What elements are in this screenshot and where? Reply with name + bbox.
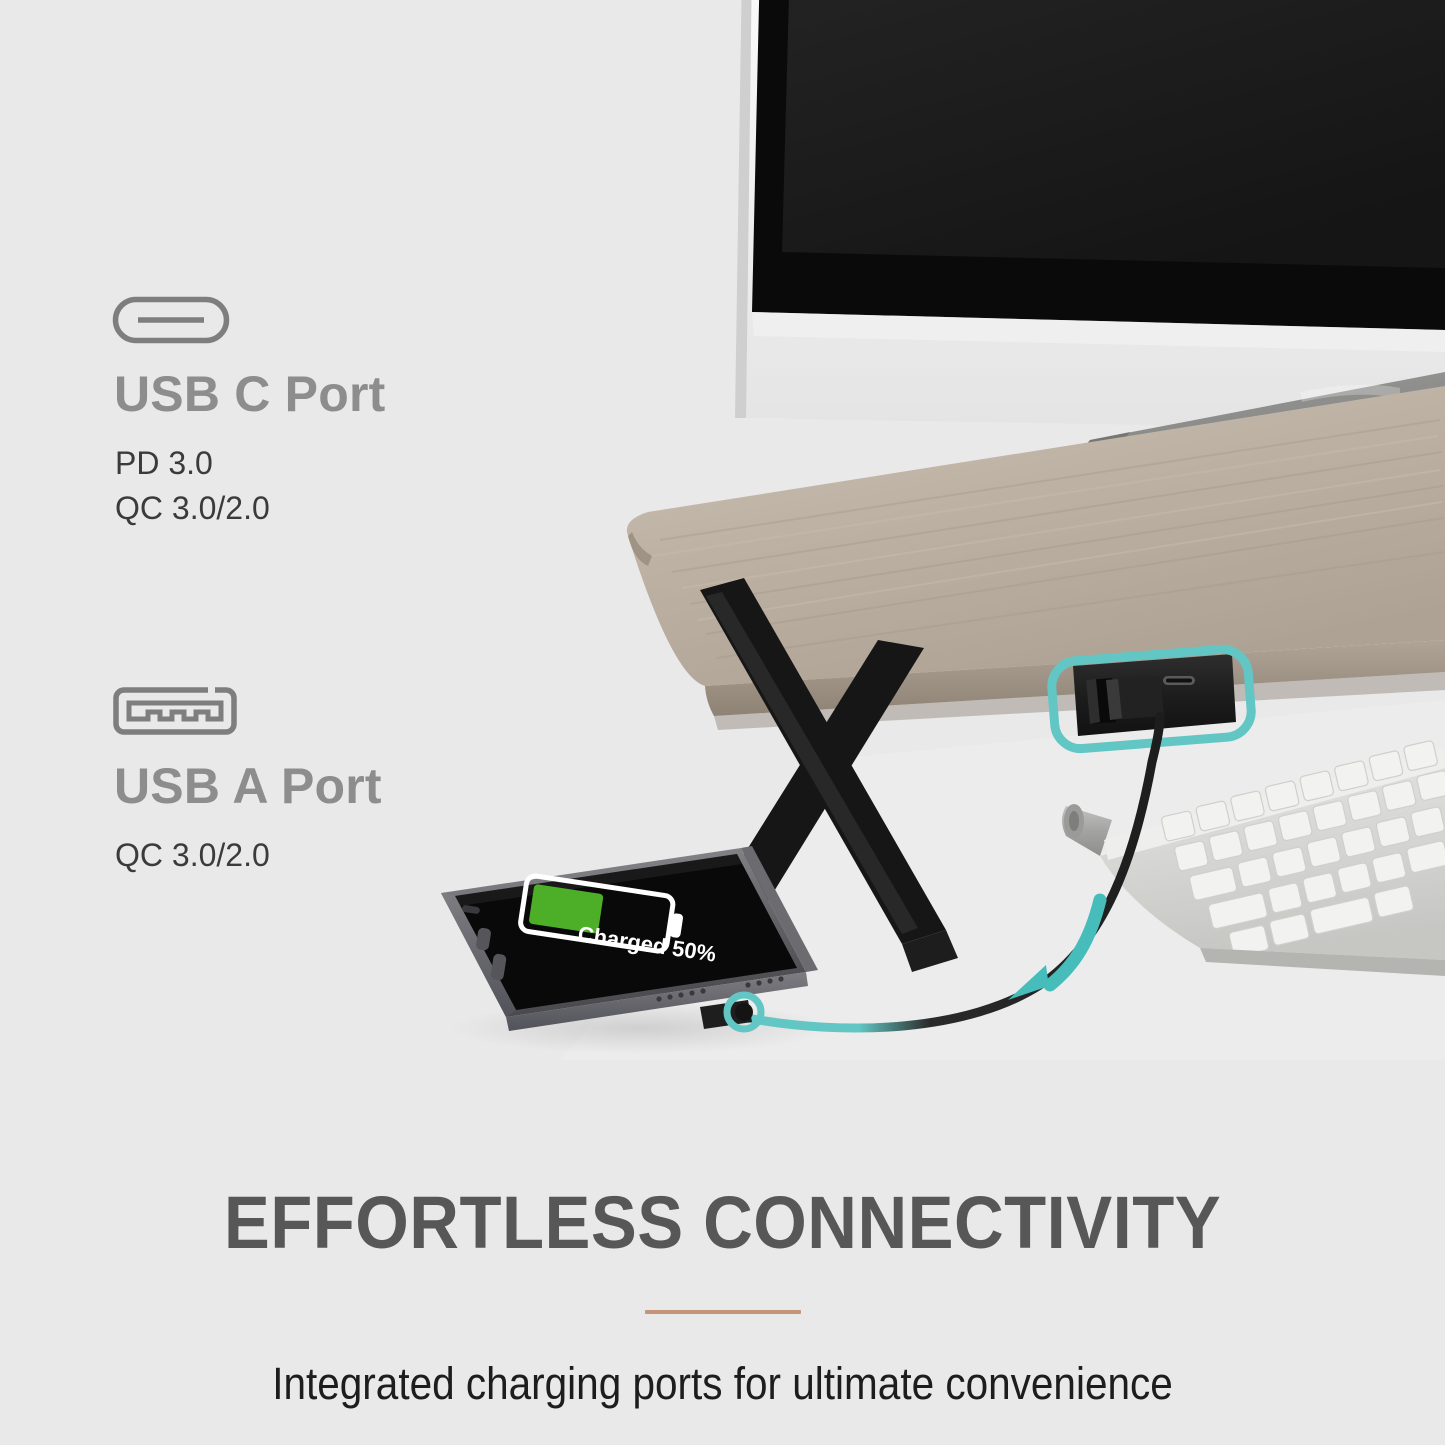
feature-spec: QC 3.0/2.0 — [115, 486, 385, 531]
monitor — [735, 0, 1445, 436]
divider-rule — [645, 1310, 801, 1314]
feature-spec: PD 3.0 — [115, 441, 385, 486]
feature-spec-list: PD 3.0 QC 3.0/2.0 — [112, 441, 385, 532]
feature-spec: QC 3.0/2.0 — [115, 833, 382, 878]
feature-spec-list: QC 3.0/2.0 — [112, 833, 382, 878]
usb-c-port-icon — [112, 296, 230, 344]
feature-usb-c-port: USB C Port PD 3.0 QC 3.0/2.0 — [112, 296, 385, 531]
usb-a-port-icon — [112, 686, 238, 736]
subtitle: Integrated charging ports for ultimate c… — [72, 1360, 1373, 1407]
bottom-text-block: EFFORTLESS CONNECTIVITY Integrated charg… — [0, 1186, 1445, 1407]
product-feature-image: Charged 50% USB C Port — [0, 0, 1445, 1445]
headline: EFFORTLESS CONNECTIVITY — [51, 1186, 1395, 1260]
usb-port-module — [1073, 654, 1236, 736]
feature-usb-a-port: USB A Port QC 3.0/2.0 — [112, 686, 382, 878]
feature-title: USB A Port — [114, 760, 382, 813]
feature-title: USB C Port — [114, 368, 385, 421]
